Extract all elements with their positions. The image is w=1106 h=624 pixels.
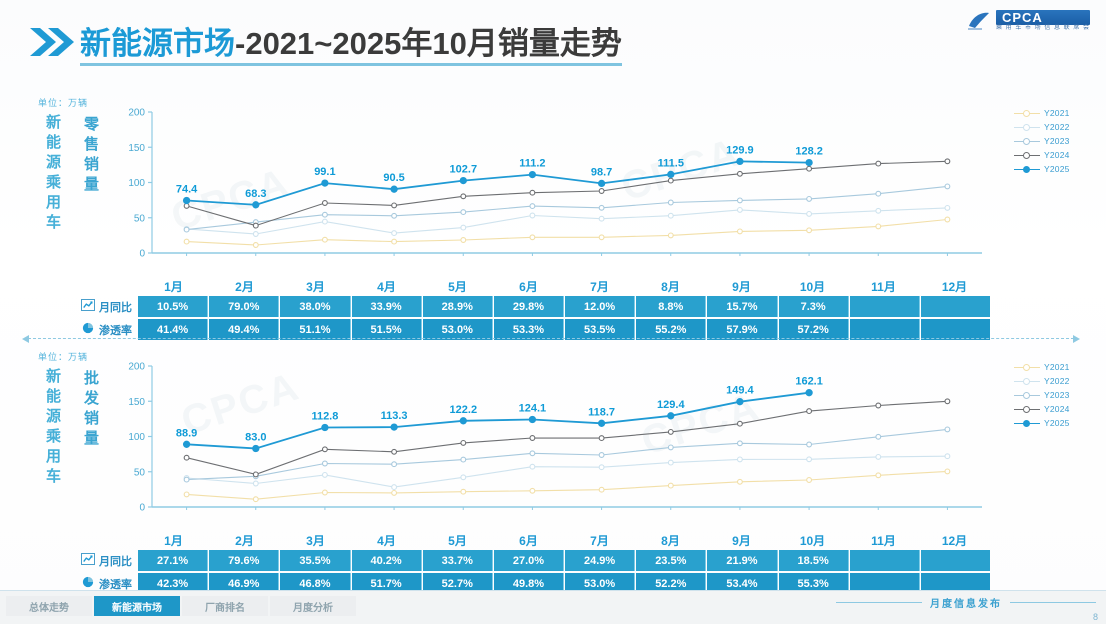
table-cell: 28.9%: [423, 296, 493, 317]
svg-text:99.1: 99.1: [314, 166, 335, 178]
legend-item-y2023: Y2023: [1014, 388, 1100, 402]
svg-text:50: 50: [134, 467, 146, 478]
legend-label: Y2025: [1044, 164, 1070, 174]
legend-label: Y2024: [1044, 404, 1070, 414]
month-tick-label: 7月: [564, 278, 635, 298]
month-tick-label: 8月: [635, 532, 706, 552]
panel-divider: [28, 338, 1074, 340]
table-cell: 27.0%: [494, 550, 564, 571]
svg-text:88.9: 88.9: [176, 427, 197, 439]
legend-label: Y2024: [1044, 150, 1070, 160]
svg-text:100: 100: [128, 432, 145, 443]
legend-swatch-y2025-icon: [1014, 164, 1040, 174]
svg-text:111.5: 111.5: [658, 157, 684, 169]
legend-swatch-y2024-icon: [1014, 404, 1040, 414]
svg-text:200: 200: [128, 108, 145, 119]
svg-text:118.7: 118.7: [588, 406, 615, 418]
table-cell: [921, 319, 990, 340]
table-cell: 41.4%: [138, 319, 208, 340]
table-cell: 21.9%: [707, 550, 777, 571]
row-label: 月同比: [99, 553, 132, 569]
legend-label: Y2023: [1044, 136, 1070, 146]
table-cell: 51.5%: [352, 319, 422, 340]
month-tick-label: 12月: [919, 532, 990, 552]
table-cell: 33.7%: [423, 550, 493, 571]
table-cell: 79.0%: [209, 296, 279, 317]
row-header: 月同比: [32, 296, 138, 317]
svg-text:122.2: 122.2: [450, 404, 478, 416]
page-header: 新能源市场 -2021~2025年10月销量走势 CPCA 乘 用 车 市 场 …: [0, 0, 1106, 84]
legend-label: Y2025: [1044, 418, 1070, 428]
panel1-vertical-label-metric: 零售销量: [82, 116, 99, 196]
panel2-vertical-label-metric: 批发销量: [82, 370, 99, 450]
table-row: 月同比10.5%79.0%38.0%33.9%28.9%29.8%12.0%8.…: [32, 296, 990, 317]
month-tick-label: 2月: [209, 532, 280, 552]
svg-text:129.4: 129.4: [657, 399, 685, 411]
legend-swatch-y2021-icon: [1014, 108, 1040, 118]
svg-text:83.0: 83.0: [245, 432, 266, 444]
table-cell: 23.5%: [636, 550, 706, 571]
legend-label: Y2021: [1044, 108, 1070, 118]
month-tick-label: 9月: [706, 532, 777, 552]
month-tick-label: 3月: [280, 532, 351, 552]
table-cell: 7.3%: [779, 296, 849, 317]
svg-text:113.3: 113.3: [381, 410, 408, 422]
row-header: 月同比: [32, 550, 138, 571]
table-cell: 53.0%: [423, 319, 493, 340]
table-cell: 18.5%: [779, 550, 849, 571]
month-tick-label: 9月: [706, 278, 777, 298]
svg-text:112.8: 112.8: [311, 411, 338, 423]
month-tick-label: 5月: [422, 532, 493, 552]
svg-text:68.3: 68.3: [245, 188, 266, 200]
svg-text:0: 0: [139, 249, 145, 260]
pie-chart-icon: [81, 322, 95, 337]
slide-page: 新能源市场 -2021~2025年10月销量走势 CPCA 乘 用 车 市 场 …: [0, 0, 1106, 624]
month-tick-label: 6月: [493, 278, 564, 298]
table-cell: 27.1%: [138, 550, 208, 571]
svg-text:50: 50: [134, 213, 146, 224]
legend-item-y2021: Y2021: [1014, 106, 1100, 120]
svg-text:102.7: 102.7: [450, 164, 478, 176]
month-tick-label: 11月: [848, 278, 919, 298]
wholesale-panel: 单位：万辆 新能源乘用车 批发销量 CPCA CPCA 050100150200…: [0, 342, 1106, 590]
month-tick-label: 6月: [493, 532, 564, 552]
svg-text:150: 150: [128, 143, 145, 154]
table-cell: 10.5%: [138, 296, 208, 317]
footer-tab-active[interactable]: 新能源市场: [94, 596, 180, 616]
panel1-month-axis: 1月2月3月4月5月6月7月8月9月10月11月12月: [138, 278, 990, 298]
svg-text:129.9: 129.9: [726, 144, 754, 156]
cpca-logo-text: CPCA: [996, 10, 1090, 25]
legend-swatch-y2025-icon: [1014, 418, 1040, 428]
trend-chart-icon: [81, 553, 95, 568]
table-cell: [921, 296, 990, 317]
month-tick-label: 2月: [209, 278, 280, 298]
page-number: 8: [1093, 612, 1098, 622]
wholesale-line-chart: 05010015020088.983.0112.8113.3122.2124.1…: [118, 352, 990, 527]
table-cell: 55.2%: [636, 319, 706, 340]
table-cell: 49.4%: [209, 319, 279, 340]
footer-title: 月度信息发布: [930, 595, 1002, 610]
month-tick-label: 10月: [777, 532, 848, 552]
footer-tab-item[interactable]: 月度分析: [270, 596, 356, 616]
row-label: 月同比: [99, 299, 132, 315]
retail-line-chart: 05010015020074.468.399.190.5102.7111.298…: [118, 98, 990, 273]
svg-text:200: 200: [128, 362, 145, 373]
table-cell: 24.9%: [565, 550, 635, 571]
legend-swatch-y2024-icon: [1014, 150, 1040, 160]
row-header: 渗透率: [32, 319, 138, 340]
legend-item-y2025: Y2025: [1014, 162, 1100, 176]
panel1-vertical-label-category: 新能源乘用车: [44, 114, 61, 234]
legend-item-y2023: Y2023: [1014, 134, 1100, 148]
svg-text:149.4: 149.4: [726, 385, 754, 397]
svg-text:111.2: 111.2: [519, 158, 545, 170]
legend-swatch-y2021-icon: [1014, 362, 1040, 372]
legend-swatch-y2022-icon: [1014, 376, 1040, 386]
month-tick-label: 7月: [564, 532, 635, 552]
table-cell: 8.8%: [636, 296, 706, 317]
table-cell: 57.9%: [707, 319, 777, 340]
footer-tab-item[interactable]: 总体走势: [6, 596, 92, 616]
legend-item-y2022: Y2022: [1014, 120, 1100, 134]
footer-rule-left: [836, 602, 922, 603]
panel1-data-table: 月同比10.5%79.0%38.0%33.9%28.9%29.8%12.0%8.…: [32, 296, 990, 342]
table-cell: [850, 319, 920, 340]
panel2-month-axis: 1月2月3月4月5月6月7月8月9月10月11月12月: [138, 532, 990, 552]
footer-tab-item[interactable]: 厂商排名: [182, 596, 268, 616]
month-tick-label: 10月: [777, 278, 848, 298]
table-cell: 53.3%: [494, 319, 564, 340]
legend-label: Y2022: [1044, 376, 1070, 386]
legend-swatch-y2023-icon: [1014, 136, 1040, 146]
cpca-logo-mark: [966, 10, 992, 32]
month-tick-label: 4月: [351, 278, 422, 298]
table-cell: [850, 550, 920, 571]
table-cell: 40.2%: [352, 550, 422, 571]
table-row: 月同比27.1%79.6%35.5%40.2%33.7%27.0%24.9%23…: [32, 550, 990, 571]
page-title-highlight: 新能源市场: [80, 27, 235, 61]
svg-text:128.2: 128.2: [795, 146, 823, 158]
month-tick-label: 12月: [919, 278, 990, 298]
legend-item-y2022: Y2022: [1014, 374, 1100, 388]
month-tick-label: 11月: [848, 532, 919, 552]
table-cell: 57.2%: [779, 319, 849, 340]
table-cell: 33.9%: [352, 296, 422, 317]
legend-label: Y2021: [1044, 362, 1070, 372]
month-tick-label: 8月: [635, 278, 706, 298]
footer-brand: 月度信息发布: [836, 595, 1096, 610]
svg-text:90.5: 90.5: [383, 172, 404, 184]
month-tick-label: 5月: [422, 278, 493, 298]
svg-text:150: 150: [128, 397, 145, 408]
legend-label: Y2022: [1044, 122, 1070, 132]
legend-item-y2024: Y2024: [1014, 148, 1100, 162]
table-cell: 79.6%: [209, 550, 279, 571]
table-cell: 29.8%: [494, 296, 564, 317]
svg-text:100: 100: [128, 178, 145, 189]
page-title: 新能源市场 -2021~2025年10月销量走势: [80, 20, 622, 66]
table-cell: 51.1%: [280, 319, 350, 340]
panel1-unit-label: 单位：万辆: [38, 96, 88, 109]
legend-item-y2025: Y2025: [1014, 416, 1100, 430]
table-cell: [850, 296, 920, 317]
table-cell: 38.0%: [280, 296, 350, 317]
month-tick-label: 1月: [138, 532, 209, 552]
retail-panel: 单位：万辆 新能源乘用车 零售销量 CPCA CPCA 050100150200…: [0, 88, 1106, 336]
footer-rule-right: [1010, 602, 1096, 603]
table-cell: 15.7%: [707, 296, 777, 317]
panel2-unit-label: 单位：万辆: [38, 350, 88, 363]
svg-text:98.7: 98.7: [591, 166, 612, 178]
svg-text:124.1: 124.1: [519, 403, 547, 415]
table-cell: 35.5%: [280, 550, 350, 571]
cpca-logo: CPCA 乘 用 车 市 场 信 息 联 席 会: [966, 10, 1090, 32]
table-row: 渗透率41.4%49.4%51.1%51.5%53.0%53.3%53.5%55…: [32, 319, 990, 340]
month-tick-label: 1月: [138, 278, 209, 298]
legend-label: Y2023: [1044, 390, 1070, 400]
svg-text:74.4: 74.4: [176, 184, 198, 196]
svg-text:0: 0: [139, 503, 145, 514]
month-tick-label: 3月: [280, 278, 351, 298]
month-tick-label: 4月: [351, 532, 422, 552]
legend-item-y2024: Y2024: [1014, 402, 1100, 416]
pie-chart-icon: [81, 576, 95, 591]
table-cell: 53.5%: [565, 319, 635, 340]
legend-item-y2021: Y2021: [1014, 360, 1100, 374]
legend-swatch-y2022-icon: [1014, 122, 1040, 132]
svg-text:162.1: 162.1: [795, 376, 823, 388]
page-title-rest: -2021~2025年10月销量走势: [235, 27, 622, 61]
retail-chart-legend: Y2021Y2022Y2023Y2024Y2025: [1014, 106, 1100, 176]
wholesale-chart-legend: Y2021Y2022Y2023Y2024Y2025: [1014, 360, 1100, 430]
table-cell: 12.0%: [565, 296, 635, 317]
trend-chart-icon: [81, 299, 95, 314]
row-label: 渗透率: [99, 322, 132, 338]
panel2-vertical-label-category: 新能源乘用车: [44, 368, 61, 488]
table-cell: [921, 550, 990, 571]
page-footer: 总体走势新能源市场厂商排名月度分析 月度信息发布 8: [0, 590, 1106, 624]
legend-swatch-y2023-icon: [1014, 390, 1040, 400]
cpca-logo-subtitle: 乘 用 车 市 场 信 息 联 席 会: [996, 25, 1090, 32]
footer-tabs: 总体走势新能源市场厂商排名月度分析: [6, 596, 356, 616]
double-chevron-right-icon: [28, 22, 76, 62]
